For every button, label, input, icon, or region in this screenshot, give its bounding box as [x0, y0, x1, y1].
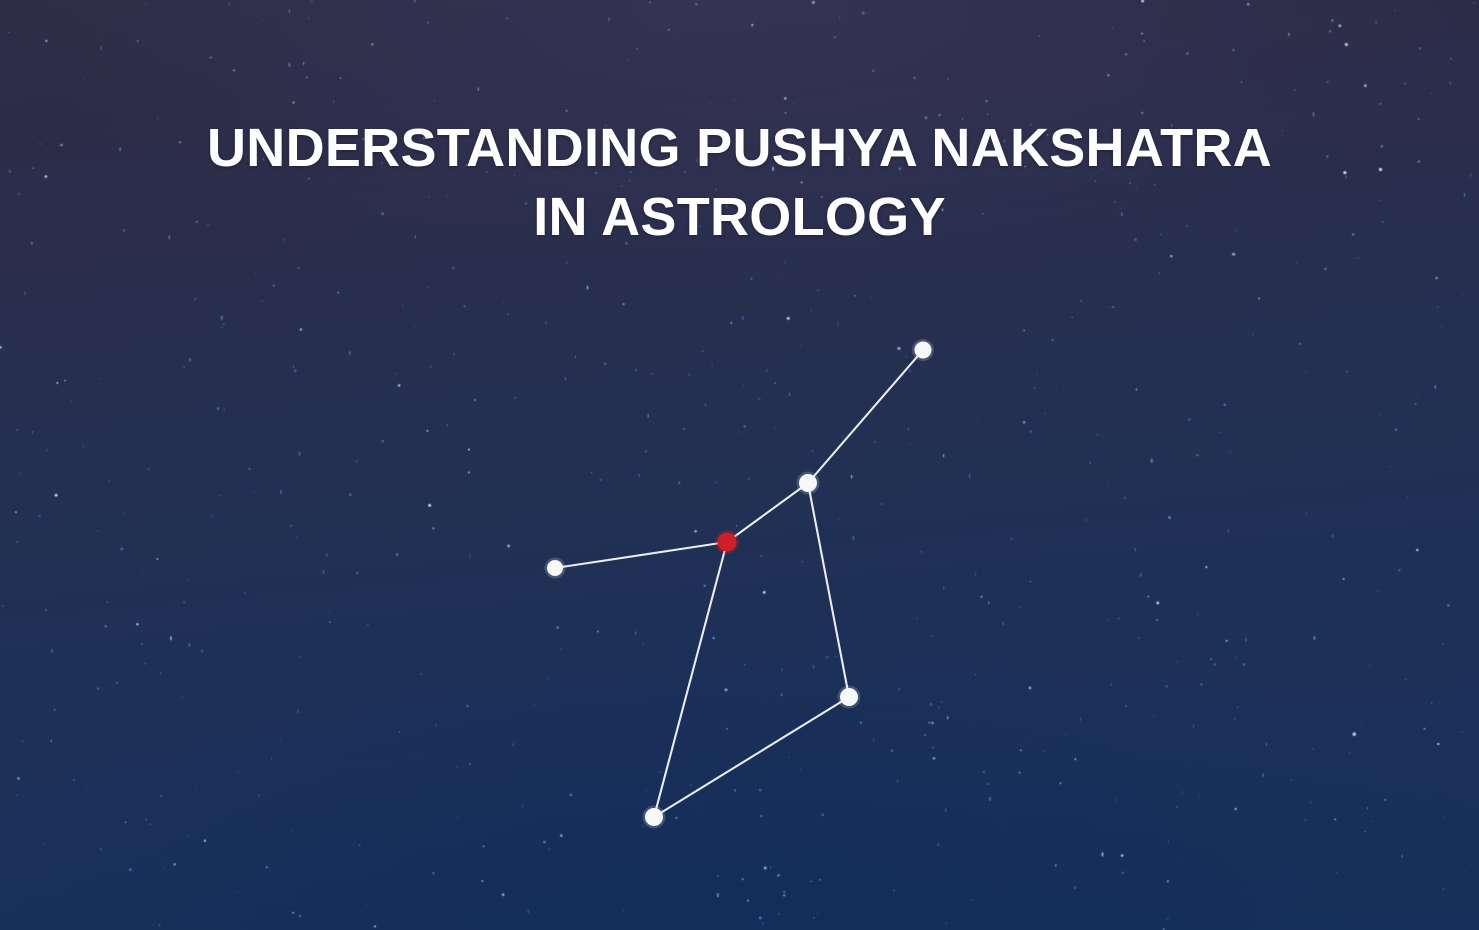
constellation-stars	[545, 339, 935, 829]
star-glow	[912, 339, 934, 361]
constellation-line	[654, 697, 849, 817]
star-dot	[718, 533, 737, 552]
star-dot	[547, 560, 563, 576]
star-glow	[838, 686, 861, 709]
constellation-edges	[555, 350, 923, 817]
constellation-star-junction	[797, 472, 820, 495]
star-glow	[545, 558, 566, 579]
star-dot	[645, 808, 663, 826]
star-glow	[643, 806, 666, 829]
constellation-star-top	[912, 339, 934, 361]
constellation-star-right-lower	[838, 686, 861, 709]
constellation-line	[654, 542, 727, 817]
star-dot	[915, 342, 932, 359]
constellation-line	[727, 483, 808, 542]
star-dot	[840, 688, 858, 706]
constellation-star-pushya-main	[715, 530, 739, 554]
constellation-star-bottom	[643, 806, 666, 829]
page-title: UNDERSTANDING PUSHYA NAKSHATRA IN ASTROL…	[0, 114, 1479, 252]
constellation-line	[808, 350, 923, 483]
constellation-line	[808, 483, 849, 697]
star-glow	[715, 530, 739, 554]
star-glow	[797, 472, 820, 495]
constellation-line	[555, 542, 727, 568]
poster-canvas: UNDERSTANDING PUSHYA NAKSHATRA IN ASTROL…	[0, 0, 1479, 930]
star-dot	[799, 474, 817, 492]
constellation-star-left	[545, 558, 566, 579]
